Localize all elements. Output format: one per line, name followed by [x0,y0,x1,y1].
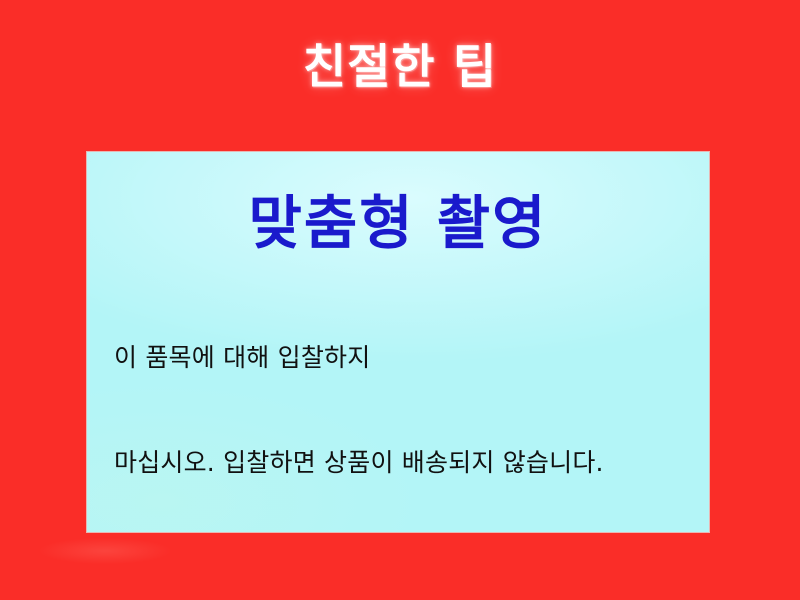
background-artifact [40,538,170,564]
slide-canvas: 친절한 팁 맞춤형 촬영 이 품목에 대해 입찰하지 마십시오. 입찰하면 상품… [0,0,800,600]
content-card-inner: 맞춤형 촬영 이 품목에 대해 입찰하지 마십시오. 입찰하면 상품이 배송되지… [87,152,709,532]
content-card: 맞춤형 촬영 이 품목에 대해 입찰하지 마십시오. 입찰하면 상품이 배송되지… [86,151,710,533]
slide-title: 친절한 팁 [0,42,800,95]
card-body-line-1: 이 품목에 대해 입찰하지 [114,342,370,373]
card-body-line-2: 마십시오. 입찰하면 상품이 배송되지 않습니다. [114,447,604,478]
card-heading: 맞춤형 촬영 [87,192,709,256]
